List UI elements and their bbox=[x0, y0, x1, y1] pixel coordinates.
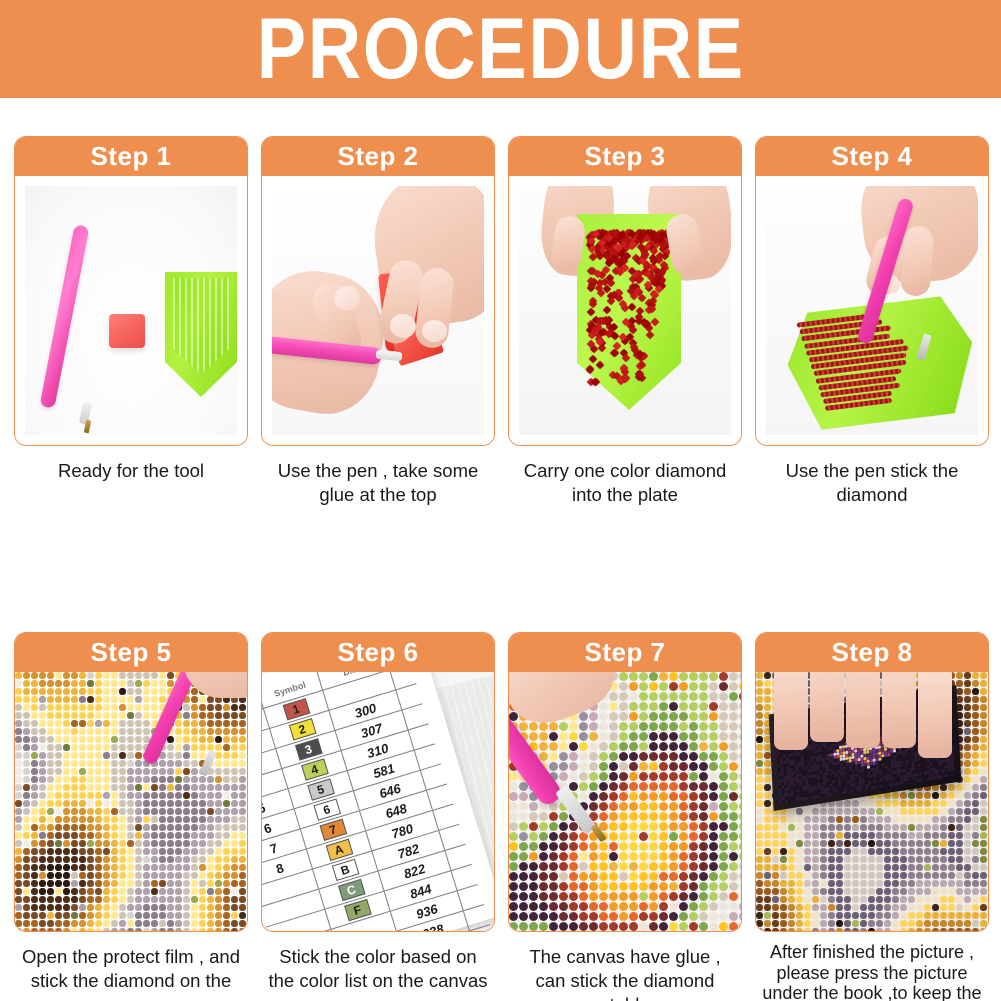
step-caption-4: Use the pen stick the diamond bbox=[755, 459, 989, 506]
step-card-5: Step 5 bbox=[14, 632, 248, 932]
page-banner: PROCEDURE bbox=[0, 0, 1001, 98]
step-card-7: Step 7 bbox=[508, 632, 742, 932]
tray-diamonds-photo bbox=[519, 186, 731, 435]
glue-dip-photo bbox=[272, 186, 484, 435]
step-cell-5: Step 5 Open the protect film , and stick… bbox=[14, 632, 248, 1001]
step-header-label: Step 8 bbox=[831, 639, 912, 665]
procedure-infographic: PROCEDURE Step 1 bbox=[0, 0, 1001, 1001]
step-image-5 bbox=[15, 672, 247, 931]
page-title: PROCEDURE bbox=[256, 6, 744, 92]
steps-grid: Step 1 Ready for the tool bbox=[14, 136, 987, 1001]
press-book-photo bbox=[756, 672, 988, 931]
step-caption-7: The canvas have glue , can stick the dia… bbox=[508, 945, 742, 1001]
step-header-4: Step 4 bbox=[755, 136, 989, 176]
step-cell-7: Step 7 The canvas have glue , can stick … bbox=[508, 632, 742, 1001]
step-cell-8: Step 8 After finished the picture , plea… bbox=[755, 632, 989, 1001]
step-cell-6: Step 6 SymSymbolDMC112230033307443105558… bbox=[261, 632, 495, 1001]
step-header-label: Step 2 bbox=[337, 143, 418, 169]
step-caption-3: Carry one color diamond into the plate bbox=[508, 459, 742, 506]
step-header-label: Step 5 bbox=[90, 639, 171, 665]
glued-canvas-photo bbox=[509, 672, 741, 931]
step-card-2: Step 2 bbox=[261, 136, 495, 446]
step-cell-4: Step 4 Use the pen st bbox=[755, 136, 989, 506]
finger-icon bbox=[900, 225, 935, 297]
sunflower-canvas-photo bbox=[15, 672, 247, 931]
step-header-5: Step 5 bbox=[14, 632, 248, 672]
step-cell-2: Step 2 bbox=[261, 136, 495, 506]
step-header-label: Step 4 bbox=[831, 143, 912, 169]
step-header-label: Step 3 bbox=[584, 143, 665, 169]
step-cell-1: Step 1 Ready for the tool bbox=[14, 136, 248, 506]
step-image-2 bbox=[262, 176, 494, 445]
step-card-6: Step 6 SymSymbolDMC112230033307443105558… bbox=[261, 632, 495, 932]
diamond-mosaic bbox=[15, 672, 247, 931]
step-image-7 bbox=[509, 672, 741, 931]
step-caption-5: Open the protect film , and stick the di… bbox=[14, 945, 248, 1001]
color-chart-photo: SymSymbolDMC1122300333074431055581666467… bbox=[262, 672, 494, 931]
red-diamonds-group bbox=[581, 226, 677, 386]
step-cell-3: Step 3 Carry one color diamond into the … bbox=[508, 136, 742, 506]
step-card-8: Step 8 bbox=[755, 632, 989, 932]
step-header-3: Step 3 bbox=[508, 136, 742, 176]
step-caption-1: Ready for the tool bbox=[14, 459, 248, 483]
pen-pick-photo bbox=[766, 186, 978, 435]
pressing-fingers-group bbox=[764, 672, 974, 752]
step-image-8 bbox=[756, 672, 988, 931]
step-header-label: Step 7 bbox=[584, 639, 665, 665]
step-image-6: SymSymbolDMC1122300333074431055581666467… bbox=[262, 672, 494, 931]
step-image-3 bbox=[509, 176, 741, 445]
step-header-label: Step 6 bbox=[337, 639, 418, 665]
step-caption-6: Stick the color based on the color list … bbox=[261, 945, 495, 992]
step-card-1: Step 1 bbox=[14, 136, 248, 446]
step-image-4 bbox=[756, 176, 988, 445]
glue-clay-icon bbox=[109, 314, 145, 348]
step-header-2: Step 2 bbox=[261, 136, 495, 176]
step-card-3: Step 3 bbox=[508, 136, 742, 446]
step-image-1 bbox=[15, 176, 247, 445]
step-caption-2: Use the pen , take some glue at the top bbox=[261, 459, 495, 506]
step-card-4: Step 4 bbox=[755, 136, 989, 446]
step-header-1: Step 1 bbox=[14, 136, 248, 176]
step-header-6: Step 6 bbox=[261, 632, 495, 672]
fingernail-icon bbox=[422, 320, 447, 342]
tools-photo bbox=[25, 186, 237, 435]
step-header-8: Step 8 bbox=[755, 632, 989, 672]
step-caption-8: After finished the picture , please pres… bbox=[755, 942, 989, 1001]
step-header-7: Step 7 bbox=[508, 632, 742, 672]
step-header-label: Step 1 bbox=[90, 143, 171, 169]
